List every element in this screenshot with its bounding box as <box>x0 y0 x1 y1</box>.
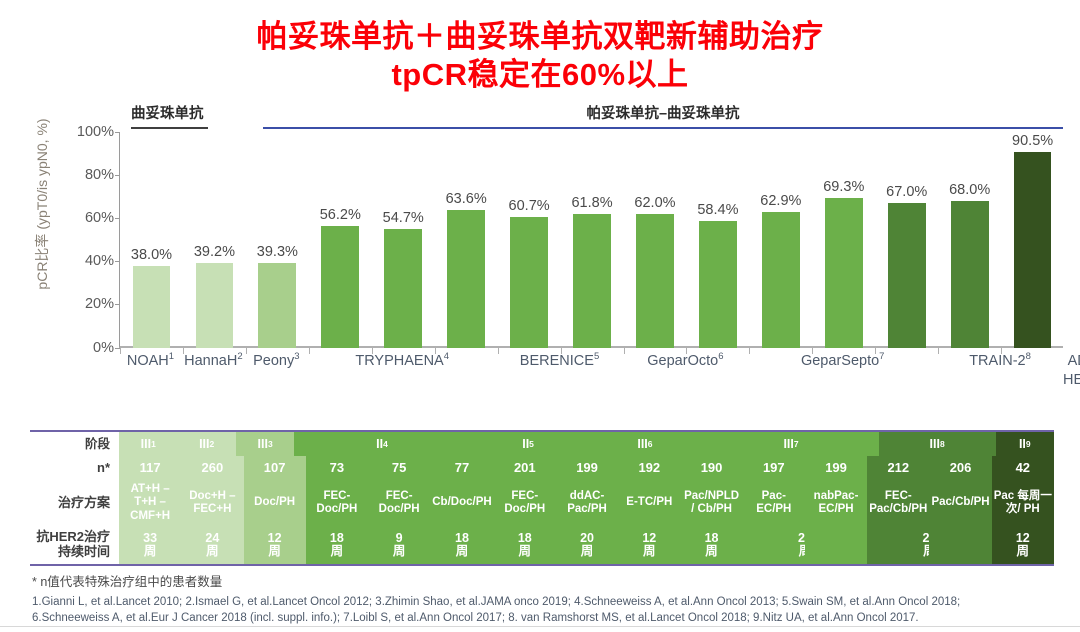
group-header-band: 曲妥珠单抗 帕妥珠单抗–曲妥珠单抗 <box>0 102 1080 130</box>
chart-container: 曲妥珠单抗 帕妥珠单抗–曲妥珠单抗 pCR比率 (ypT0/is ypN0, %… <box>0 102 1080 402</box>
table-cell-regimen: FEC-Doc/PH <box>494 480 556 526</box>
x-axis-label-superscript: 8 <box>1026 352 1031 363</box>
table-cell-duration: 20周 <box>556 526 618 564</box>
table-cell-n: 260 <box>181 456 243 480</box>
bar[interactable]: 60.7% <box>510 217 548 348</box>
bar-slot: 61.8% <box>561 132 624 348</box>
x-axis-label-text: TRYPHAENA4 <box>355 353 449 369</box>
x-axis-label: HannaH2 <box>182 352 245 372</box>
table-cell-duration: 24周 <box>181 526 243 564</box>
group-header-pertuzumab-trastuzumab: 帕妥珠单抗–曲妥珠单抗 <box>263 102 1063 129</box>
x-axis-label: NOAH1 <box>119 352 182 372</box>
x-axis-labels: NOAH1HannaH2Peony3TRYPHAENA4BERENICE5Gep… <box>119 352 1063 392</box>
table-cell-stage: II5 <box>470 432 587 456</box>
x-axis-label: ADAPT9HER2+/HR– <box>1063 352 1080 391</box>
plot-area: 100%80%60%40%20%0% 38.0%39.2%39.3%56.2%5… <box>119 132 1063 348</box>
x-axis-label-superscript: 7 <box>879 352 884 363</box>
title-line-2: tpCR稳定在60%以上 <box>0 56 1080 94</box>
stage-superscript: 6 <box>648 439 653 449</box>
bar-slot: 62.0% <box>624 132 687 348</box>
bar-series: 38.0%39.2%39.3%56.2%54.7%63.6%60.7%61.8%… <box>120 132 1064 348</box>
table-cell-stage: III2 <box>177 432 235 456</box>
table-cell-duration: 18周 <box>494 526 556 564</box>
bar-slot: 68.0% <box>938 132 1001 348</box>
bar-slot: 63.6% <box>435 132 498 348</box>
y-tick-label: 0% <box>64 340 114 356</box>
stage-superscript: 1 <box>151 439 156 449</box>
bar-value-label: 60.7% <box>509 198 550 214</box>
bar[interactable]: 38.0% <box>133 266 171 348</box>
bar-slot: 67.0% <box>875 132 938 348</box>
stage-superscript: 9 <box>1026 439 1031 449</box>
stage-superscript: 7 <box>794 439 799 449</box>
table-cell-regimen: ddAC-Pac/PH <box>556 480 618 526</box>
x-axis-label-superscript: 1 <box>169 352 174 363</box>
duration-unit: 周 <box>456 545 469 558</box>
x-axis-label-text: ADAPT9 <box>1068 353 1080 369</box>
group-header-trastuzumab: 曲妥珠单抗 <box>131 102 208 129</box>
row-label-stage: 阶段 <box>30 432 118 456</box>
bar-value-label: 69.3% <box>823 179 864 195</box>
bar[interactable]: 58.4% <box>699 221 737 347</box>
table-cell-stage: III6 <box>587 432 704 456</box>
bar[interactable]: 62.0% <box>636 214 674 348</box>
x-axis-label-text: Peony3 <box>253 353 299 369</box>
x-axis-label: TRAIN-28 <box>937 352 1063 372</box>
table-cell-duration: 18周 <box>680 526 742 564</box>
title-line-1: 帕妥珠单抗＋曲妥珠单抗双靶新辅助治疗 <box>0 18 1080 56</box>
x-axis-label: Peony3 <box>245 352 308 372</box>
stage-superscript: 8 <box>940 439 945 449</box>
table-cell-n: 42 <box>992 456 1054 480</box>
row-label-n: n* <box>30 456 118 480</box>
duration-unit: 周 <box>268 545 281 558</box>
table-cell-n: 199 <box>805 456 867 480</box>
table-cell-stage: III8 <box>879 432 996 456</box>
row-label-duration: 抗HER2治疗持续时间 <box>30 526 118 564</box>
duration-unit: 周 <box>393 545 406 558</box>
table-cell-regimen: Pac/NPLD / Cb/PH <box>680 480 742 526</box>
table-columns: 117AT+H – T+H – CMF+H33周260Doc+H – FEC+H… <box>119 432 1054 564</box>
bar-value-label: 62.0% <box>634 195 675 211</box>
x-axis-label-superscript: 2 <box>237 352 242 363</box>
bar-slot: 39.3% <box>246 132 309 348</box>
bar-slot: 62.9% <box>749 132 812 348</box>
table-cell-n: 192 <box>618 456 680 480</box>
duration-unit: 周 <box>331 545 344 558</box>
table-cell-regimen: FEC-Doc/PH <box>368 480 430 526</box>
table-cell-n: 206 <box>929 456 991 480</box>
bar-slot: 58.4% <box>686 132 749 348</box>
y-tick-label: 100% <box>64 124 114 140</box>
table-cell-stage: III3 <box>236 432 294 456</box>
table-cell-n: 212 <box>867 456 929 480</box>
bar[interactable]: 56.2% <box>321 226 359 347</box>
y-tick-label: 40% <box>64 253 114 269</box>
bar[interactable]: 39.3% <box>258 263 296 348</box>
table-cell-n: 199 <box>556 456 618 480</box>
stage-superscript: 5 <box>529 439 534 449</box>
table-cell-duration: 12周 <box>244 526 306 564</box>
duration-unit: 周 <box>581 545 594 558</box>
x-axis-label-text: GeparOcto6 <box>647 353 723 369</box>
bar[interactable]: 68.0% <box>951 201 989 348</box>
y-tick-label: 60% <box>64 210 114 226</box>
bar-value-label: 68.0% <box>949 182 990 198</box>
table-cell-duration: 9周 <box>368 526 430 564</box>
y-tick-label: 20% <box>64 296 114 312</box>
table-cell-regimen: Doc+H – FEC+H <box>181 480 243 526</box>
duration-unit: 周 <box>1017 545 1030 558</box>
table-cell-stage: III7 <box>703 432 878 456</box>
duration-unit: 周 <box>643 545 656 558</box>
table-cell-n: 75 <box>368 456 430 480</box>
table-cell-n: 107 <box>244 456 306 480</box>
bar[interactable]: 61.8% <box>573 214 611 347</box>
x-axis-label: BERENICE5 <box>497 352 623 372</box>
table-cell-n: 77 <box>430 456 493 480</box>
bar-slot: 54.7% <box>372 132 435 348</box>
table-cell-n: 117 <box>119 456 181 480</box>
table-cell-duration <box>805 526 867 564</box>
table-cell-regimen: Cb/Doc/PH <box>430 480 493 526</box>
table-cell-stage: III1 <box>119 432 177 456</box>
x-axis-label-superscript: 4 <box>444 352 449 363</box>
duration-unit: 周 <box>519 545 532 558</box>
bar-value-label: 67.0% <box>886 184 927 200</box>
table-cell-regimen: E-TC/PH <box>618 480 680 526</box>
bar-value-label: 63.6% <box>446 191 487 207</box>
bar-value-label: 39.2% <box>194 244 235 260</box>
x-axis-label-superscript: 3 <box>294 352 299 363</box>
stage-superscript: 2 <box>210 439 215 449</box>
table-cell-regimen: Pac/Cb/PH <box>929 480 991 526</box>
y-tick-label: 80% <box>64 167 114 183</box>
footnotes: * n值代表特殊治疗组中的患者数量 1.Gianni L, et al.Lanc… <box>32 571 1062 627</box>
x-axis-label: GeparSepto7 <box>748 352 937 372</box>
bar-slot: 90.5% <box>1001 132 1064 348</box>
table-cell-stage: II9 <box>996 432 1054 456</box>
bar[interactable]: 63.6% <box>447 210 485 347</box>
table-cell-duration: 18周 <box>306 526 368 564</box>
x-axis-label-text: BERENICE5 <box>520 353 599 369</box>
stage-superscript: 3 <box>268 439 273 449</box>
table-cell-regimen: Pac 每周一次/ PH <box>992 480 1054 526</box>
table-cell-duration: 12周 <box>992 526 1054 564</box>
duration-unit: 周 <box>206 545 219 558</box>
bar-slot: 38.0% <box>120 132 183 348</box>
table-cell-regimen: Pac-EC/PH <box>743 480 805 526</box>
bar-value-label: 38.0% <box>131 247 172 263</box>
y-axis-label: pCR比率 (ypT0/is ypN0, %) <box>32 104 52 304</box>
bar-slot: 60.7% <box>498 132 561 348</box>
bar[interactable]: 90.5% <box>1014 152 1052 347</box>
bar-value-label: 90.5% <box>1012 133 1053 149</box>
x-axis-label-superscript: 5 <box>594 352 599 363</box>
table-cell-duration: 12周 <box>618 526 680 564</box>
table-cell-n: 201 <box>494 456 556 480</box>
bar-value-label: 58.4% <box>697 202 738 218</box>
x-axis-label-text: TRAIN-28 <box>969 353 1031 369</box>
footnote-star-note: * n值代表特殊治疗组中的患者数量 <box>32 571 1062 590</box>
row-label-regimen: 治疗方案 <box>30 480 118 526</box>
bar[interactable]: 39.2% <box>196 263 234 348</box>
table-cell-duration <box>929 526 991 564</box>
bottom-divider <box>0 626 1080 627</box>
x-axis-label-superscript: 6 <box>718 352 723 363</box>
bar-value-label: 56.2% <box>320 207 361 223</box>
table-cell-regimen: FEC-Doc/PH <box>306 480 368 526</box>
study-details-table: 阶段 n* 治疗方案 抗HER2治疗持续时间 117AT+H – T+H – C… <box>30 430 1054 566</box>
table-cell-duration: 33周 <box>119 526 181 564</box>
table-cell-regimen: Doc/PH <box>244 480 306 526</box>
duration-unit: 周 <box>705 545 718 558</box>
table-cell-n: 197 <box>743 456 805 480</box>
table-cell-n: 190 <box>680 456 742 480</box>
x-axis-label: TRYPHAENA4 <box>308 352 497 372</box>
bar-value-label: 62.9% <box>760 193 801 209</box>
reference-line-1: 1.Gianni L, et al.Lancet 2010; 2.Ismael … <box>32 594 1062 610</box>
bar-slot: 56.2% <box>309 132 372 348</box>
table-cell-regimen: AT+H – T+H – CMF+H <box>119 480 181 526</box>
bar-value-label: 61.8% <box>571 195 612 211</box>
table-cell-regimen: FEC-Pac/Cb/PH <box>867 480 929 526</box>
stage-superscript: 4 <box>383 439 388 449</box>
table-cell-n: 73 <box>306 456 368 480</box>
x-axis-label-text: GeparSepto7 <box>801 353 885 369</box>
reference-line-2: 6.Schneeweiss A, et al.Eur J Cancer 2018… <box>32 610 1062 626</box>
duration-unit: 周 <box>144 545 157 558</box>
bar[interactable]: 62.9% <box>762 212 800 348</box>
bar-slot: 69.3% <box>812 132 875 348</box>
bar[interactable]: 69.3% <box>825 198 863 348</box>
table-stage-row: III1III2III3II4II5III6III7III8II9 <box>119 432 1054 456</box>
table-cell-stage: II4 <box>294 432 469 456</box>
bar[interactable]: 54.7% <box>384 229 422 347</box>
bar-slot: 39.2% <box>183 132 246 348</box>
page-title: 帕妥珠单抗＋曲妥珠单抗双靶新辅助治疗 tpCR稳定在60%以上 <box>0 0 1080 94</box>
x-axis-label-subtext: HER2+/HR– <box>1063 372 1080 388</box>
table-cell-duration: 18周 <box>430 526 493 564</box>
bar-value-label: 54.7% <box>383 210 424 226</box>
x-axis-label-text: NOAH1 <box>127 353 174 369</box>
x-axis-label: GeparOcto6 <box>622 352 748 372</box>
table-row-labels: 阶段 n* 治疗方案 抗HER2治疗持续时间 <box>30 432 119 564</box>
bar-value-label: 39.3% <box>257 244 298 260</box>
table-cell-regimen: nabPac-EC/PH <box>805 480 867 526</box>
bar[interactable]: 67.0% <box>888 203 926 348</box>
x-axis-label-text: HannaH2 <box>184 353 243 369</box>
